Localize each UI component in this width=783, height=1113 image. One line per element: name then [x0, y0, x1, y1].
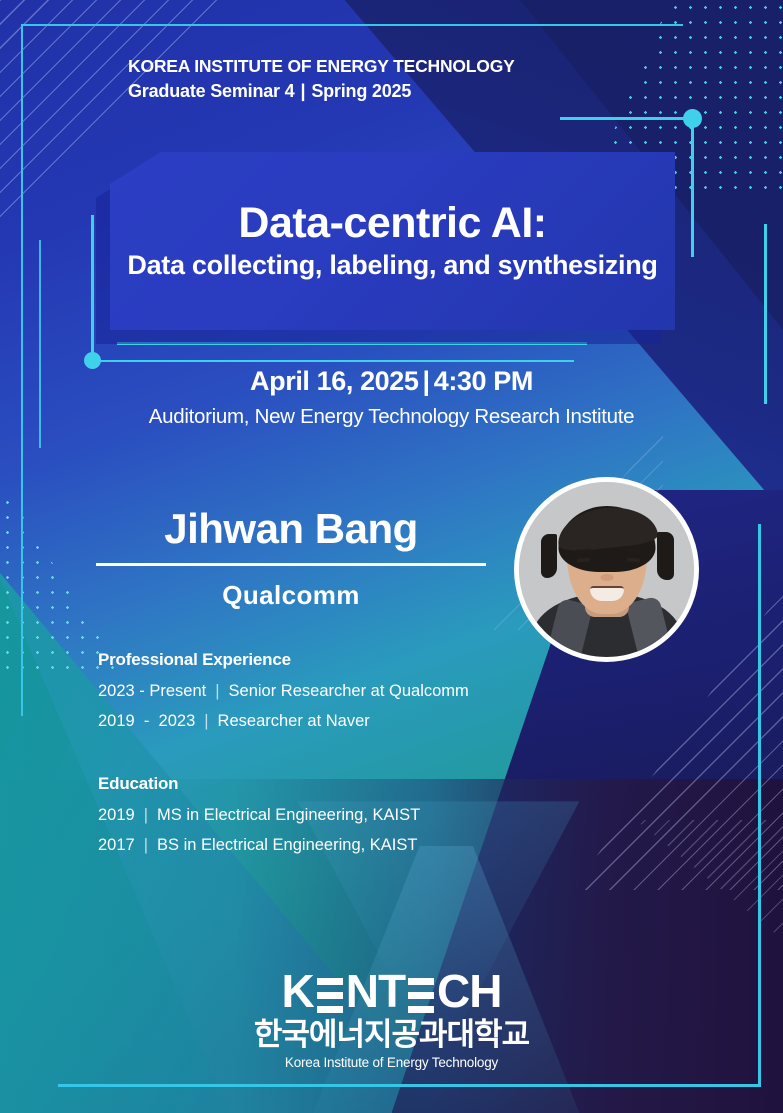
experience-heading: Professional Experience [98, 650, 658, 670]
experience-description: Senior Researcher at Qualcomm [229, 682, 469, 701]
speaker-portrait-illustration [519, 482, 694, 657]
logo-wordmark-nt: NT [346, 968, 405, 1014]
speaker-photo [514, 477, 699, 662]
seminar-poster: KOREA INSTITUTE OF ENERGY TECHNOLOGY Gra… [0, 0, 783, 1113]
connector-line-left-horizontal [99, 360, 574, 363]
poster-header: KOREA INSTITUTE OF ENERGY TECHNOLOGY Gra… [128, 56, 515, 102]
event-datetime: April 16, 2025|4:30 PM [0, 366, 783, 397]
logo-korean-name: 한국에너지공과대학교 [0, 1018, 783, 1052]
connector-node-right-dot [683, 109, 702, 128]
event-venue: Auditorium, New Energy Technology Resear… [0, 405, 783, 429]
connector-line-right-vertical [691, 125, 694, 257]
education-description: BS in Electrical Engineering, KAIST [157, 836, 417, 855]
speaker-name: Jihwan Bang [96, 505, 486, 553]
education-year: 2017 [98, 836, 135, 855]
education-heading: Education [98, 774, 658, 794]
event-time: 4:30 PM [434, 366, 533, 396]
experience-separator: | [215, 682, 219, 701]
seminar-label: Graduate Seminar 4 [128, 81, 294, 101]
experience-row: 2023 - Present | Senior Researcher at Qu… [98, 682, 658, 701]
speaker-affiliation: Qualcomm [96, 580, 486, 611]
experience-row: 2019 - 2023 | Researcher at Naver [98, 712, 658, 731]
term-label: Spring 2025 [311, 81, 411, 101]
portrait-sideburn-left [541, 534, 557, 578]
education-separator: | [144, 806, 148, 825]
experience-period: 2019 - 2023 [98, 712, 195, 731]
event-date: April 16, 2025 [250, 366, 419, 396]
datetime-separator: | [423, 366, 430, 396]
logo-stylized-e-first-icon [317, 978, 343, 1012]
speaker-divider [96, 563, 486, 566]
seminar-line: Graduate Seminar 4|Spring 2025 [128, 81, 515, 102]
logo-stylized-e-second-icon [408, 978, 434, 1012]
header-separator: | [300, 81, 305, 101]
portrait-smile [590, 586, 624, 601]
education-row: 2019 | MS in Electrical Engineering, KAI… [98, 806, 658, 825]
portrait-eye-right [627, 558, 640, 563]
education-separator: | [144, 836, 148, 855]
logo-wordmark: K NT CH [281, 968, 501, 1014]
seminar-title: Data-centric AI: [238, 201, 546, 246]
experience-separator: | [204, 712, 208, 731]
institution-name: KOREA INSTITUTE OF ENERGY TECHNOLOGY [128, 56, 515, 77]
bio-section-gap [98, 742, 658, 774]
event-details: April 16, 2025|4:30 PM Auditorium, New E… [0, 366, 783, 429]
connector-line-right-horizontal [560, 117, 690, 120]
kentech-logo: K NT CH 한국에너지공과대학교 Korea Institute of En… [0, 968, 783, 1070]
speaker-bio: Professional Experience 2023 - Present |… [98, 650, 658, 866]
portrait-sideburn-right [657, 532, 674, 580]
logo-wordmark-ch: CH [437, 968, 501, 1014]
connector-line-left-vertical [91, 215, 94, 355]
experience-period: 2023 - Present [98, 682, 206, 701]
seminar-subtitle: Data collecting, labeling, and synthesiz… [127, 250, 657, 281]
education-description: MS in Electrical Engineering, KAIST [157, 806, 420, 825]
speaker-block: Jihwan Bang Qualcomm [96, 505, 486, 611]
experience-description: Researcher at Naver [218, 712, 370, 731]
logo-english-name: Korea Institute of Energy Technology [0, 1055, 783, 1070]
education-row: 2017 | BS in Electrical Engineering, KAI… [98, 836, 658, 855]
portrait-nose [600, 574, 613, 581]
logo-wordmark-k: K [281, 968, 313, 1014]
title-panel: Data-centric AI: Data collecting, labeli… [110, 152, 675, 330]
education-year: 2019 [98, 806, 135, 825]
